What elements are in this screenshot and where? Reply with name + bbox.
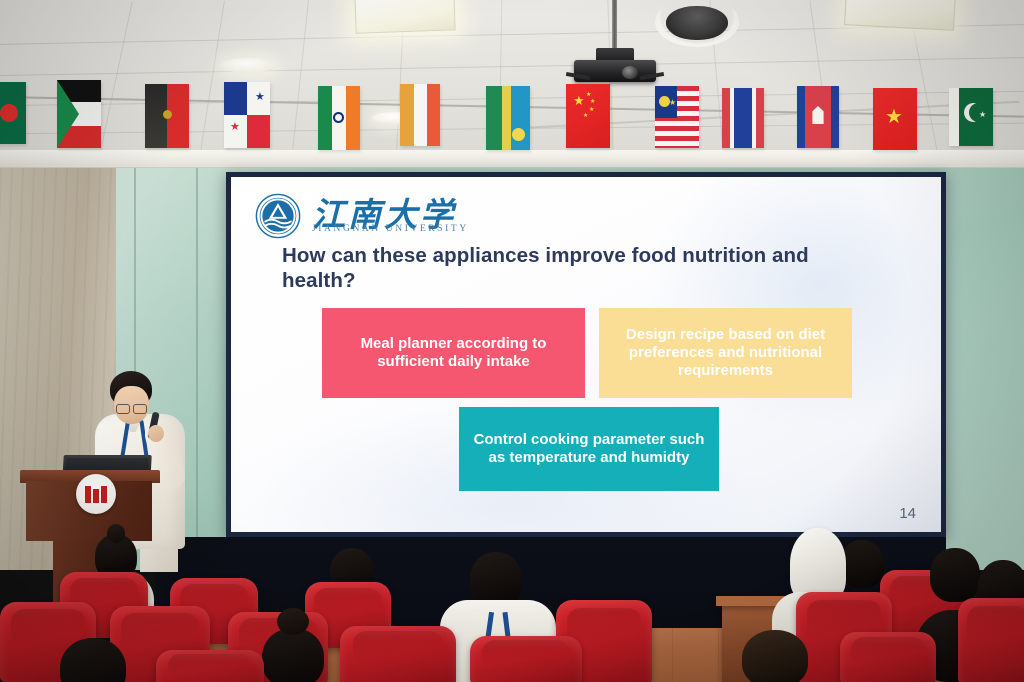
audience-head [840,540,884,588]
round-ceiling-light [220,58,276,73]
wall-trim [0,150,1024,168]
auditorium-seat [470,636,582,682]
presenter-hand [148,425,164,442]
projector-lens [622,66,638,79]
flag-rwanda [486,86,530,150]
slide-title: How can these appliances improve food nu… [282,243,887,293]
projector-pole [612,0,617,50]
audience-head [262,628,324,682]
audience-head [742,630,808,682]
concept-box-meal-planner: Meal planner according to sufficient dai… [322,308,585,398]
flag-pakistan: ★ [949,88,993,146]
attendee-hijab [790,528,846,602]
lecture-hall-photo: ★ ★ ★ ★ ★ ★ ★ ★ [0,0,1024,682]
eyeglasses-icon [116,404,147,413]
audience-head [930,548,980,602]
auditorium-seat [340,626,456,682]
auditorium-seat [156,650,264,682]
institution-logo-icon [85,486,107,503]
university-name-en: JIANGNAN UNIVERSITY [312,224,469,234]
flag-india [318,86,360,150]
fluorescent-panel-light [354,0,455,34]
flag-cambodia [797,86,839,148]
flag-sudan [57,80,101,148]
presentation-slide: 江南大学 JIANGNAN UNIVERSITY How can these a… [231,177,941,532]
flag-vietnam: ★ [873,88,917,150]
flag-egypt [145,84,189,148]
ceiling-speaker [666,6,728,40]
jiangnan-university-seal-icon [255,193,301,239]
flag-panama: ★ ★ [224,82,270,148]
flag-ireland [400,84,440,146]
flag-malaysia: ★ [655,86,699,148]
flag-china: ★ ★ ★ ★ ★ [566,84,610,148]
concept-box-design-recipe: Design recipe based on diet preferences … [599,308,852,398]
auditorium-seat [958,598,1024,682]
screen-glare [641,177,941,437]
podium-emblem [76,474,116,514]
auditorium-seat [840,632,936,682]
flag-bangladesh [0,82,26,144]
slide-number: 14 [899,505,916,522]
concept-box-control-cooking: Control cooking parameter such as temper… [459,407,719,491]
flag-thailand [722,88,764,148]
